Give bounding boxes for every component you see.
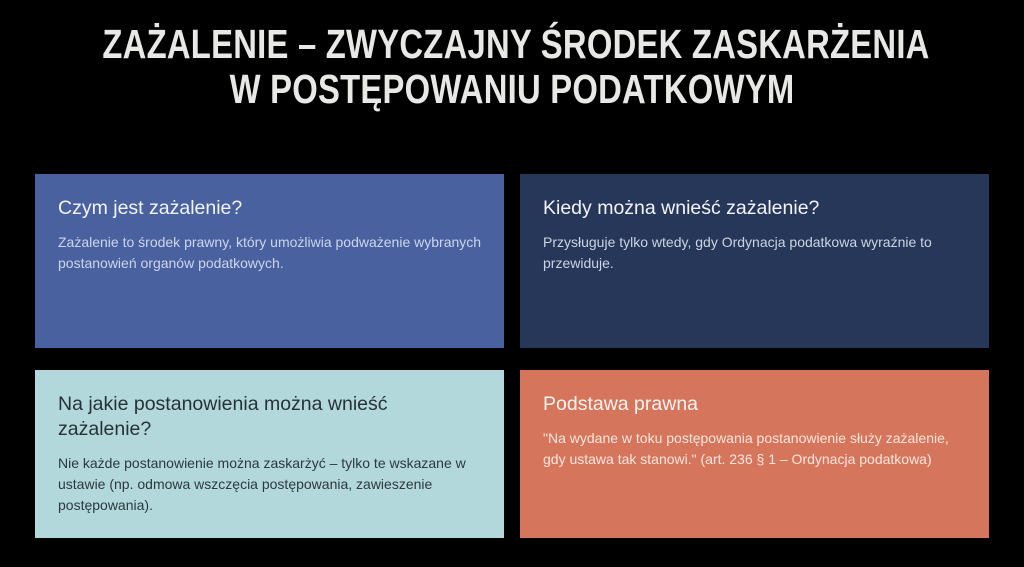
card-body: Przysługuje tylko wtedy, gdy Ordynacja p… [543,232,967,274]
page-title-line-2: w postępowaniu podatkowym [102,67,921,112]
card-title: Czym jest zażalenie? [58,196,482,221]
card-body: Nie każde postanowienie można zaskarżyć … [58,453,482,516]
card-na-jakie-postanowienia: Na jakie postanowienia można wnieść zaża… [35,370,504,538]
card-title: Kiedy można wnieść zażalenie? [543,196,967,221]
slide-canvas: Zażalenie – zwyczajny środek zaskarżenia… [0,0,1024,567]
page-title: Zażalenie – zwyczajny środek zaskarżenia… [0,22,1024,112]
card-podstawa-prawna: Podstawa prawna "Na wydane w toku postęp… [520,370,989,538]
card-title: Podstawa prawna [543,392,967,417]
card-body: Zażalenie to środek prawny, który umożli… [58,232,482,274]
card-czym-jest-zazalenie: Czym jest zażalenie? Zażalenie to środek… [35,174,504,348]
card-kiedy-mozna-wniesc: Kiedy można wnieść zażalenie? Przysługuj… [520,174,989,348]
card-grid: Czym jest zażalenie? Zażalenie to środek… [35,174,989,538]
card-title: Na jakie postanowienia można wnieść zaża… [58,392,482,442]
page-title-line-1: Zażalenie – zwyczajny środek zaskarżenia [102,22,921,67]
card-body: "Na wydane w toku postępowania postanowi… [543,428,967,470]
